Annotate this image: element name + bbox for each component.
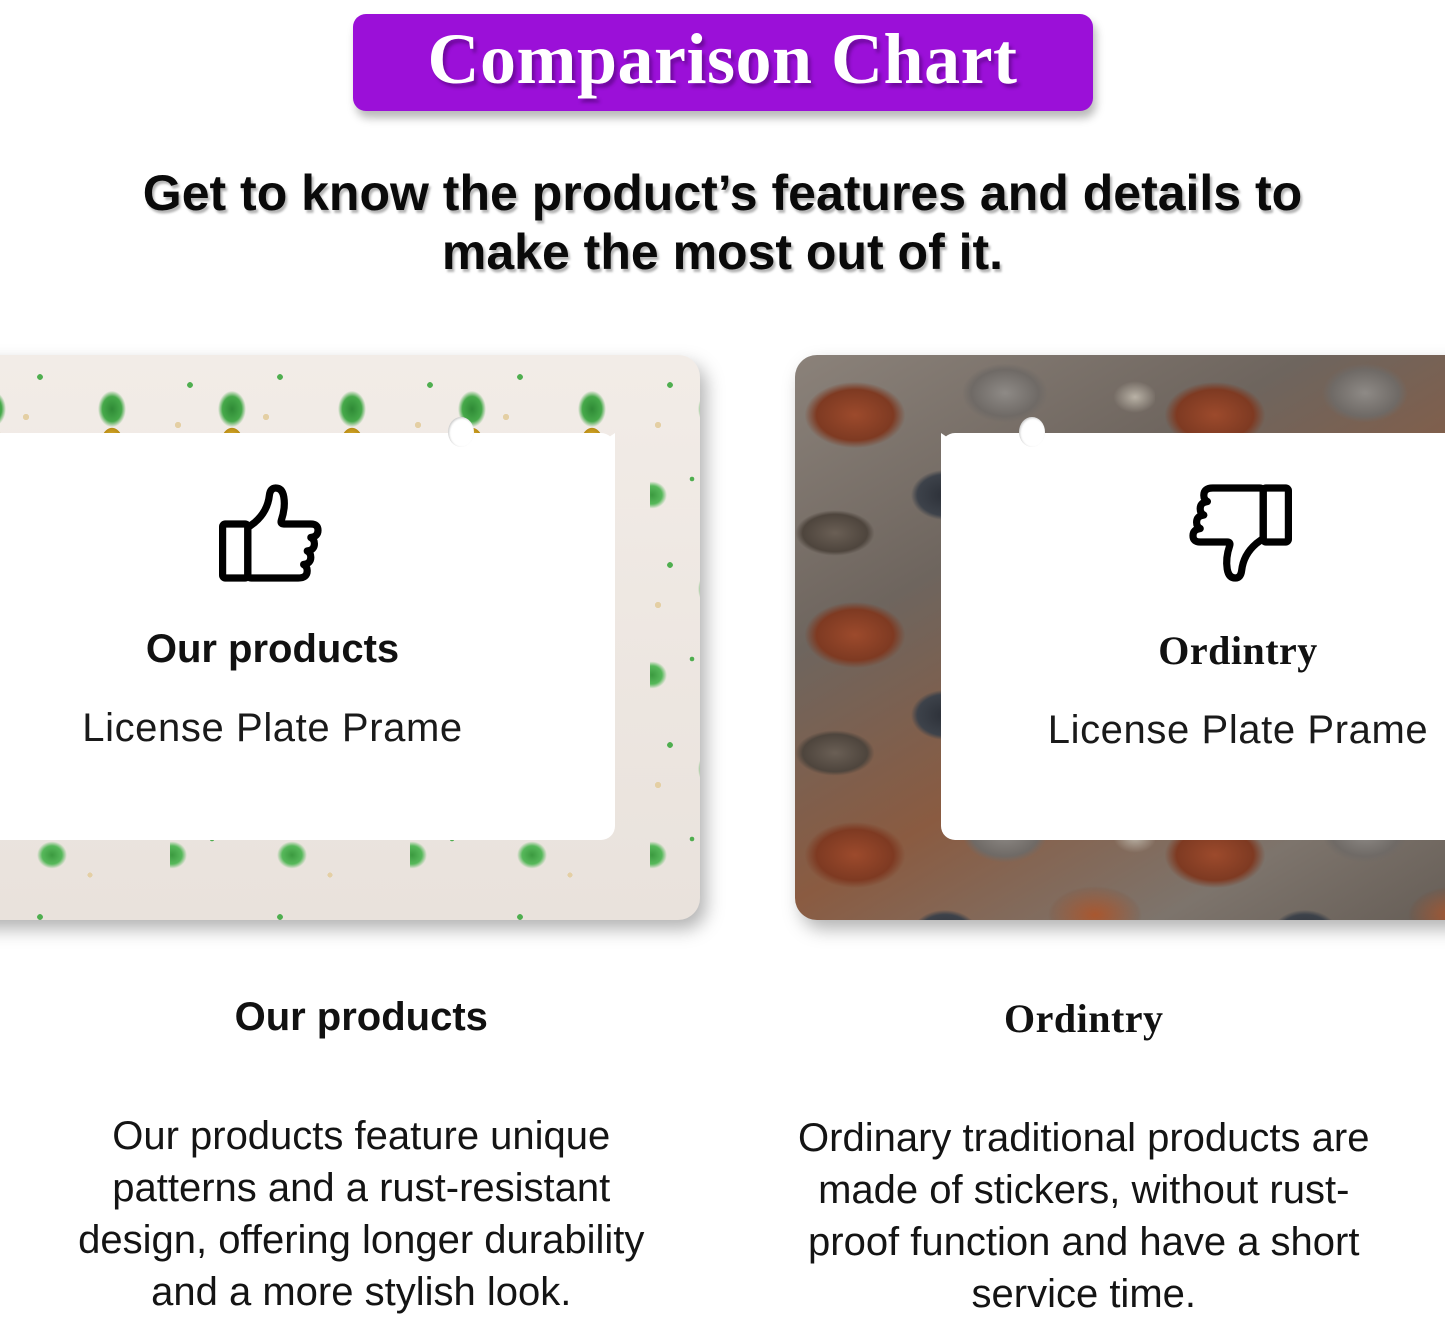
description-column-left: Our products Our products feature unique… bbox=[0, 995, 723, 1315]
plate-heading-right: Ordintry bbox=[1158, 627, 1318, 674]
description-column-right: Ordintry Ordinary traditional products a… bbox=[723, 995, 1445, 1315]
title-banner: Comparison Chart bbox=[353, 14, 1093, 111]
plate-subheading-right: License Plate Prame bbox=[1048, 708, 1428, 753]
description-body-left: Our products feature unique patterns and… bbox=[61, 1110, 661, 1318]
description-row: Our products Our products feature unique… bbox=[0, 995, 1445, 1315]
ordinary-product-frame: Ordintry License Plate Prame bbox=[795, 355, 1445, 920]
description-body-right: Ordinary traditional products are made o… bbox=[784, 1112, 1384, 1320]
license-plate-area-right: Ordintry License Plate Prame bbox=[941, 433, 1445, 840]
page-title: Comparison Chart bbox=[389, 22, 1057, 97]
plate-subheading-left: License Plate Prame bbox=[82, 706, 462, 751]
mounting-hole-left bbox=[448, 417, 474, 447]
our-product-frame: Our products License Plate Prame bbox=[0, 355, 700, 920]
comparison-frames: Our products License Plate Prame Ordintr… bbox=[0, 355, 1445, 930]
title-banner-wrapper: Comparison Chart bbox=[0, 14, 1445, 111]
plate-heading-left: Our products bbox=[146, 627, 399, 672]
subtitle-text: Get to know the product’s features and d… bbox=[133, 164, 1313, 282]
mounting-hole-right bbox=[1019, 417, 1045, 447]
thumbs-down-icon bbox=[1180, 479, 1296, 587]
description-title-right: Ordintry bbox=[1004, 995, 1164, 1042]
license-plate-area-left: Our products License Plate Prame bbox=[0, 433, 615, 840]
description-title-left: Our products bbox=[235, 995, 488, 1040]
thumbs-up-icon bbox=[215, 479, 331, 587]
